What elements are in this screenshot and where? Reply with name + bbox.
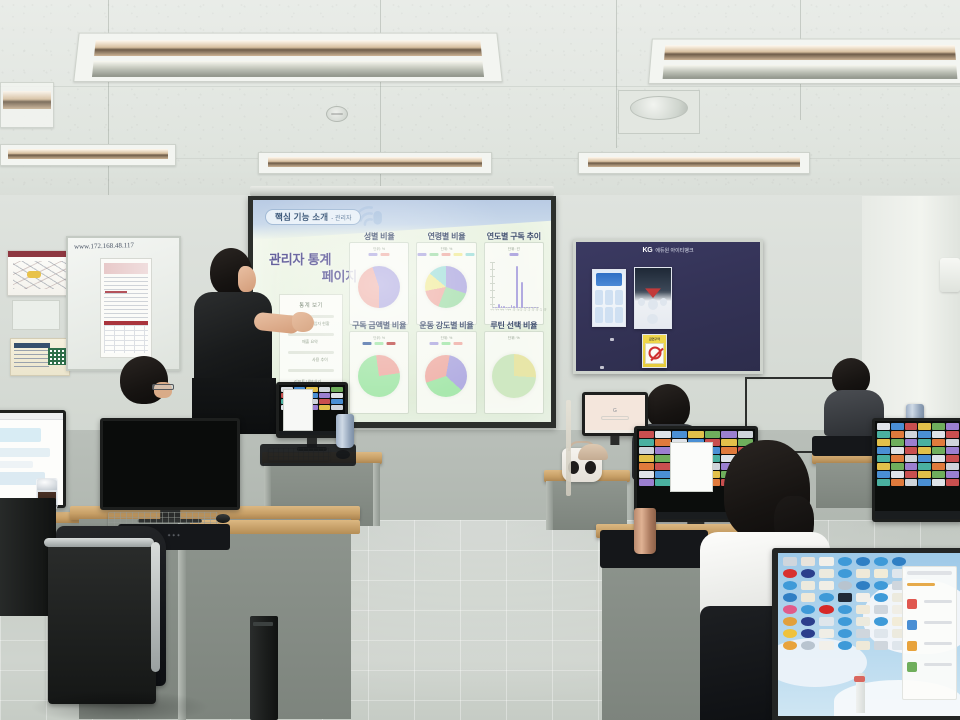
slide-chart-grid: 성별 비율 단위: % 연령별 비율 단위: % bbox=[349, 242, 544, 414]
board-pin bbox=[610, 338, 614, 341]
pie-price bbox=[358, 355, 400, 397]
mousepad-brand: ◈ ◈ ◈ bbox=[168, 533, 181, 537]
wall-fixture bbox=[940, 258, 960, 292]
ceiling-vent-diffuser bbox=[630, 96, 688, 120]
chart-subtitle: 단위: % bbox=[417, 247, 475, 252]
chart-title: 연령별 비율 bbox=[417, 231, 475, 242]
ceiling-speaker bbox=[326, 106, 348, 122]
ceiling bbox=[0, 0, 960, 205]
bar bbox=[521, 282, 523, 307]
beige-cap bbox=[578, 444, 608, 460]
browser-logo: G bbox=[613, 408, 617, 414]
ceiling-light-panel bbox=[0, 144, 176, 166]
chart-subtitle: 단위: % bbox=[485, 336, 543, 341]
logo-subtext: 에듀원 아이티뱅크 bbox=[655, 247, 693, 254]
notice-poster-dark bbox=[634, 267, 672, 329]
news-widget-panel[interactable] bbox=[902, 566, 958, 700]
pie-intensity bbox=[425, 355, 467, 397]
floor-shadow bbox=[30, 690, 210, 720]
chart-card-age: 연령별 비율 단위: % bbox=[416, 242, 476, 325]
chart-card-routine: 루틴 선택 비율 단위: % bbox=[484, 331, 544, 414]
notice-board: KG 에듀원 아이티뱅크 금연구역 bbox=[573, 239, 763, 374]
text-block bbox=[0, 448, 50, 457]
ceiling-texture bbox=[0, 0, 960, 205]
chart-subtitle: 단위: 건 bbox=[485, 247, 543, 252]
chart-title: 연도별 구독 추이 bbox=[485, 231, 543, 242]
text-block bbox=[0, 461, 33, 468]
notice-poster-blue bbox=[592, 269, 626, 327]
search-box bbox=[601, 416, 630, 420]
notice-poster-no-smoking: 금연구역 bbox=[642, 334, 667, 368]
slide-tab-label: 핵심 기능 소개 bbox=[275, 211, 328, 223]
hanging-strip bbox=[566, 400, 571, 496]
chart-legend bbox=[418, 253, 475, 256]
chart-legend bbox=[369, 253, 390, 256]
chart-card-gender: 성별 비율 단위: % bbox=[349, 242, 409, 325]
chart-legend bbox=[430, 342, 463, 345]
presenter-hand bbox=[292, 312, 314, 332]
ceiling-seam bbox=[380, 0, 381, 205]
ceiling-seam bbox=[616, 0, 617, 148]
ceiling-light-panel bbox=[73, 33, 503, 82]
route-map-poster bbox=[7, 250, 73, 296]
no-smoking-caption: 금연구역 bbox=[643, 337, 666, 341]
ceiling-light-panel bbox=[648, 39, 960, 84]
course-info-poster bbox=[10, 338, 70, 376]
chart-card-intensity: 운동 강도별 비율 단위: % bbox=[416, 331, 476, 414]
classroom-photo: www.172.168.48.117 핵심 기능 소개 - 관리자 bbox=[0, 0, 960, 720]
chart-title: 구독 금액별 비율 bbox=[350, 320, 408, 331]
chart-title: 운동 강도별 비율 bbox=[417, 320, 475, 331]
browser-toolbar bbox=[0, 413, 63, 420]
monitor-dense-icons-right bbox=[872, 418, 960, 522]
whiteboard: www.172.168.48.117 bbox=[66, 236, 181, 371]
chart-subtitle: 단위: % bbox=[350, 336, 408, 341]
chart-card-subscription-trend: 연도별 구독 추이 단위: 건 123456789101112131415161… bbox=[484, 242, 544, 325]
chart-legend bbox=[363, 342, 396, 345]
slide-tab-sublabel: - 관리자 bbox=[331, 213, 351, 222]
logo-mark: KG bbox=[642, 247, 652, 254]
ceiling-seam bbox=[108, 0, 109, 205]
bar-series bbox=[493, 264, 539, 308]
office-chair bbox=[48, 544, 156, 704]
pie-gender bbox=[358, 266, 400, 308]
monitor-foreground-right-desktop bbox=[772, 548, 960, 720]
pc-tower-center bbox=[250, 616, 278, 720]
mouse-foreground-center bbox=[216, 514, 230, 523]
presenter-torso bbox=[194, 292, 272, 392]
projector-screen-roller bbox=[250, 186, 554, 196]
monitor-foreground-center bbox=[100, 418, 240, 510]
ceiling-light-panel bbox=[578, 152, 810, 174]
whiteboard-handwriting: www.172.168.48.117 bbox=[74, 241, 134, 251]
chart-x-tick-labels: 123456789101112131415161718 bbox=[493, 307, 539, 315]
chart-legend bbox=[509, 253, 518, 256]
institute-logo: KG 에듀원 아이티뱅크 bbox=[642, 247, 693, 254]
whiteboard-posted-document bbox=[100, 258, 152, 358]
ceiling-light-panel bbox=[0, 82, 54, 128]
chart-title: 성별 비율 bbox=[350, 231, 408, 242]
pie-routine bbox=[492, 354, 536, 398]
mockup-row-label: 사용 추이 bbox=[312, 357, 328, 363]
chart-subtitle: 단위: % bbox=[417, 336, 475, 341]
chart-title: 루틴 선택 비율 bbox=[485, 320, 543, 331]
ceiling-seam bbox=[0, 86, 960, 87]
bar bbox=[516, 266, 518, 308]
rose-gold-tumbler bbox=[634, 508, 656, 554]
mockup-row-label: 매출 요약 bbox=[302, 339, 318, 345]
pie-age bbox=[425, 266, 467, 308]
presenter-face bbox=[238, 266, 256, 292]
text-block bbox=[0, 428, 41, 443]
blank-notice-sheet bbox=[12, 300, 60, 330]
glasses-icon bbox=[152, 384, 174, 390]
board-pin bbox=[600, 366, 604, 369]
blue-tumbler bbox=[336, 414, 354, 448]
slide-section-tab: 핵심 기능 소개 - 관리자 bbox=[265, 209, 361, 225]
chart-card-price: 구독 금액별 비율 단위: % bbox=[349, 331, 409, 414]
open-window bbox=[283, 389, 313, 431]
ceiling-light-panel bbox=[258, 152, 492, 174]
chart-subtitle: 단위: % bbox=[350, 247, 408, 252]
